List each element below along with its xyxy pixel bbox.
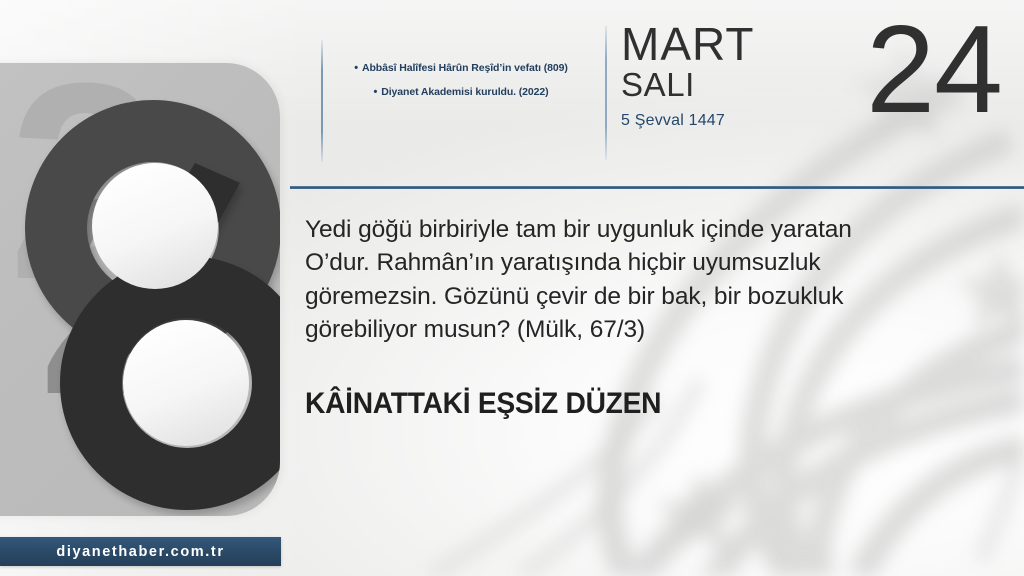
website-url[interactable]: diyanethaber.com.tr <box>56 544 224 560</box>
month-label: MART <box>621 22 851 66</box>
event-text: Diyanet Akademisi kuruldu. (2022) <box>381 86 548 98</box>
bullet-icon: • <box>373 87 377 98</box>
list-item: • Diyanet Akademisi kuruldu. (2022) <box>336 86 586 98</box>
quote-text: Yedi göğü birbiriyle tam bir uygunluk iç… <box>305 213 915 346</box>
event-text: Abbâsî Halîfesi Hârûn Reşîd’in vefatı (8… <box>362 62 568 74</box>
horizontal-divider <box>290 186 1024 189</box>
date-block: MART SALI 5 Şevval 1447 <box>621 22 851 130</box>
weekday-label: SALI <box>621 68 851 103</box>
historic-events-list: • Abbâsî Halîfesi Hârûn Reşîd’in vefatı … <box>336 62 586 110</box>
year-graphic-panel: 2 2 <box>0 63 280 516</box>
calendar-page: 2 2 • Abbâsî Halîfesi Hârûn Reşîd’in vef… <box>0 0 1024 576</box>
vertical-divider-left <box>321 40 323 162</box>
page-title: KÂİNATTAKİ EŞSİZ DÜZEN <box>305 387 661 421</box>
vertical-divider-right <box>605 26 607 160</box>
hijri-date-label: 5 Şevval 1447 <box>621 112 851 130</box>
list-item: • Abbâsî Halîfesi Hârûn Reşîd’in vefatı … <box>336 62 586 74</box>
footer-bar: diyanethaber.com.tr <box>0 537 281 566</box>
bullet-icon: • <box>354 63 358 74</box>
day-number: 24 <box>866 8 1002 132</box>
